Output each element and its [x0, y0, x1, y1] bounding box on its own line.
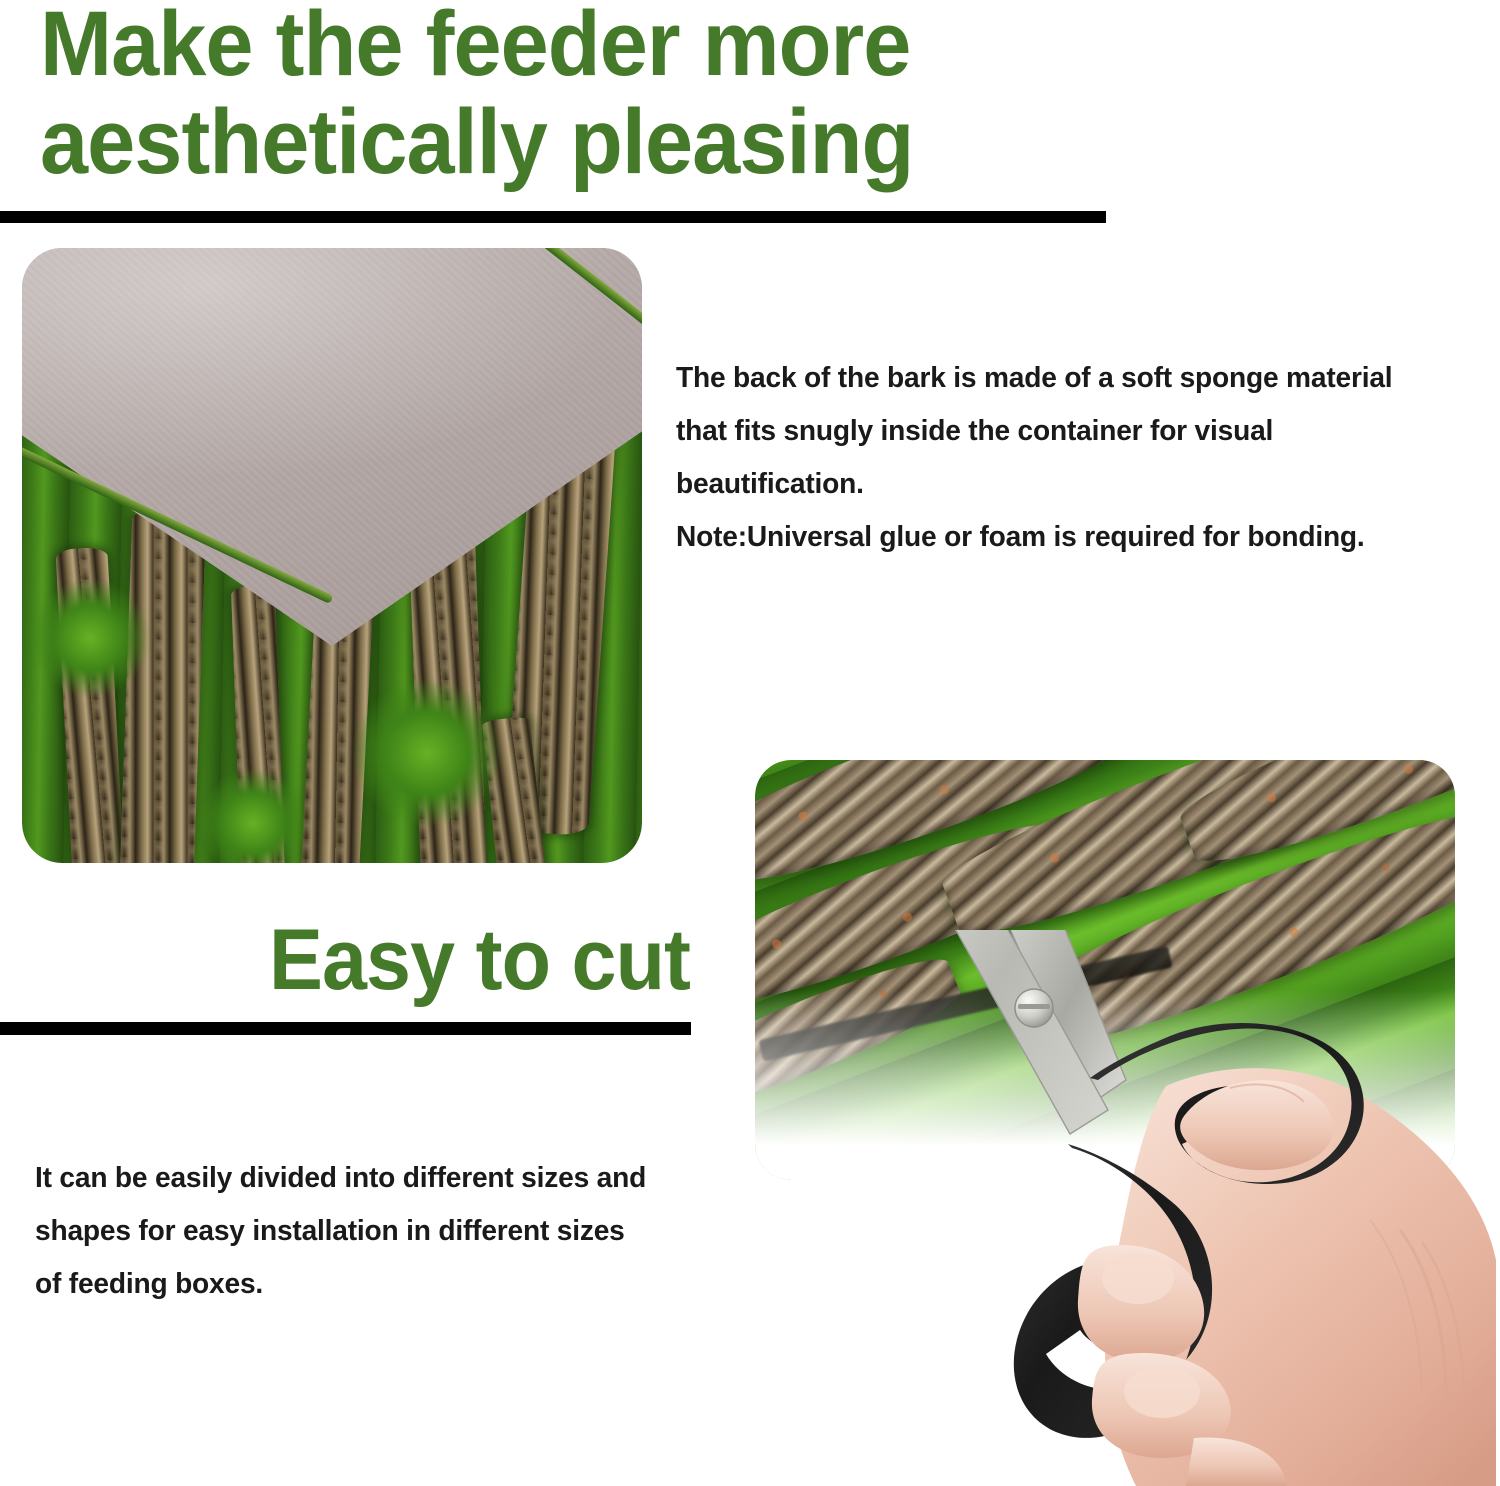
scissors-and-hand-illustration: [930, 930, 1500, 1486]
description-line: beautification.: [676, 458, 1481, 511]
moss-tuft: [352, 678, 502, 828]
description-bark-backing: The back of the bark is made of a soft s…: [676, 352, 1481, 564]
page-title-main: Make the feeder more aesthetically pleas…: [40, 0, 913, 191]
photo-bark-sponge-backing: [22, 248, 642, 863]
description-easy-to-cut: It can be easily divided into different …: [35, 1152, 743, 1311]
divider-rule-middle: [0, 1022, 691, 1035]
description-line: shapes for easy installation in differen…: [35, 1205, 743, 1258]
description-line: It can be easily divided into different …: [35, 1152, 743, 1205]
description-line: that fits snugly inside the container fo…: [676, 405, 1481, 458]
page-title-line-2: aesthetically pleasing: [40, 94, 913, 192]
scissors-pivot-screw: [1015, 989, 1053, 1027]
moss-tuft: [30, 578, 150, 698]
description-line: The back of the bark is made of a soft s…: [676, 352, 1481, 405]
description-note: Note:Universal glue or foam is required …: [676, 511, 1481, 564]
divider-rule-top: [0, 211, 1106, 223]
page-title-secondary: Easy to cut: [41, 915, 690, 1006]
bark-strip: [120, 509, 207, 863]
page-title-line-1: Make the feeder more: [40, 0, 913, 94]
description-line: of feeding boxes.: [35, 1258, 743, 1311]
